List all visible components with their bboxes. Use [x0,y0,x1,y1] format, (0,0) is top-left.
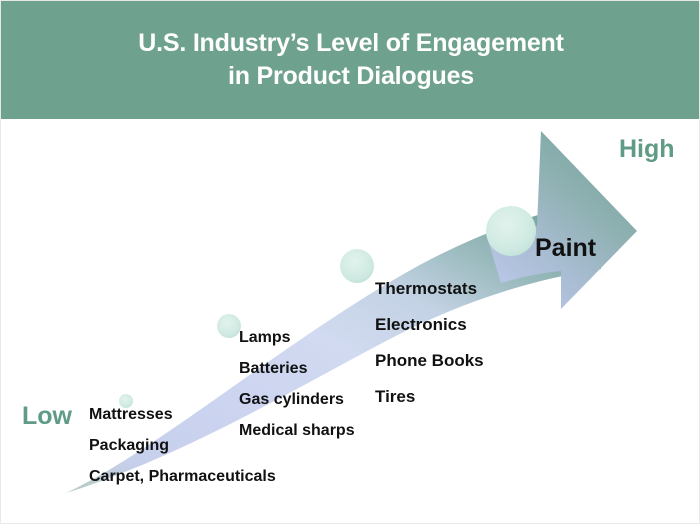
list-item: Batteries [239,360,355,378]
title-line-1: U.S. Industry’s Level of Engagement [138,29,564,59]
list-item: Gas cylinders [239,391,355,409]
list-item: Carpet, Pharmaceuticals [89,468,276,486]
label-group-high: Thermostats Electronics Phone Books Tire… [375,279,484,423]
list-item: Lamps [239,329,355,347]
label-group-mid: Lamps Batteries Gas cylinders Medical sh… [239,329,355,453]
slide-canvas: U.S. Industry’s Level of Engagement in P… [0,0,700,524]
list-item: Phone Books [375,351,484,371]
label-paint: Paint [535,236,596,261]
bubble-marker-highest [486,206,536,256]
list-item: Medical sharps [239,422,355,440]
axis-label-low: Low [22,404,72,429]
list-item: Tires [375,387,484,407]
title-line-2: in Product Dialogues [228,62,474,92]
list-item: Electronics [375,315,484,335]
bubble-marker-mid [217,314,241,338]
slide-title: U.S. Industry’s Level of Engagement in P… [1,1,700,119]
list-item: Thermostats [375,279,484,299]
axis-label-high: High [619,137,675,162]
bubble-marker-high [340,249,374,283]
